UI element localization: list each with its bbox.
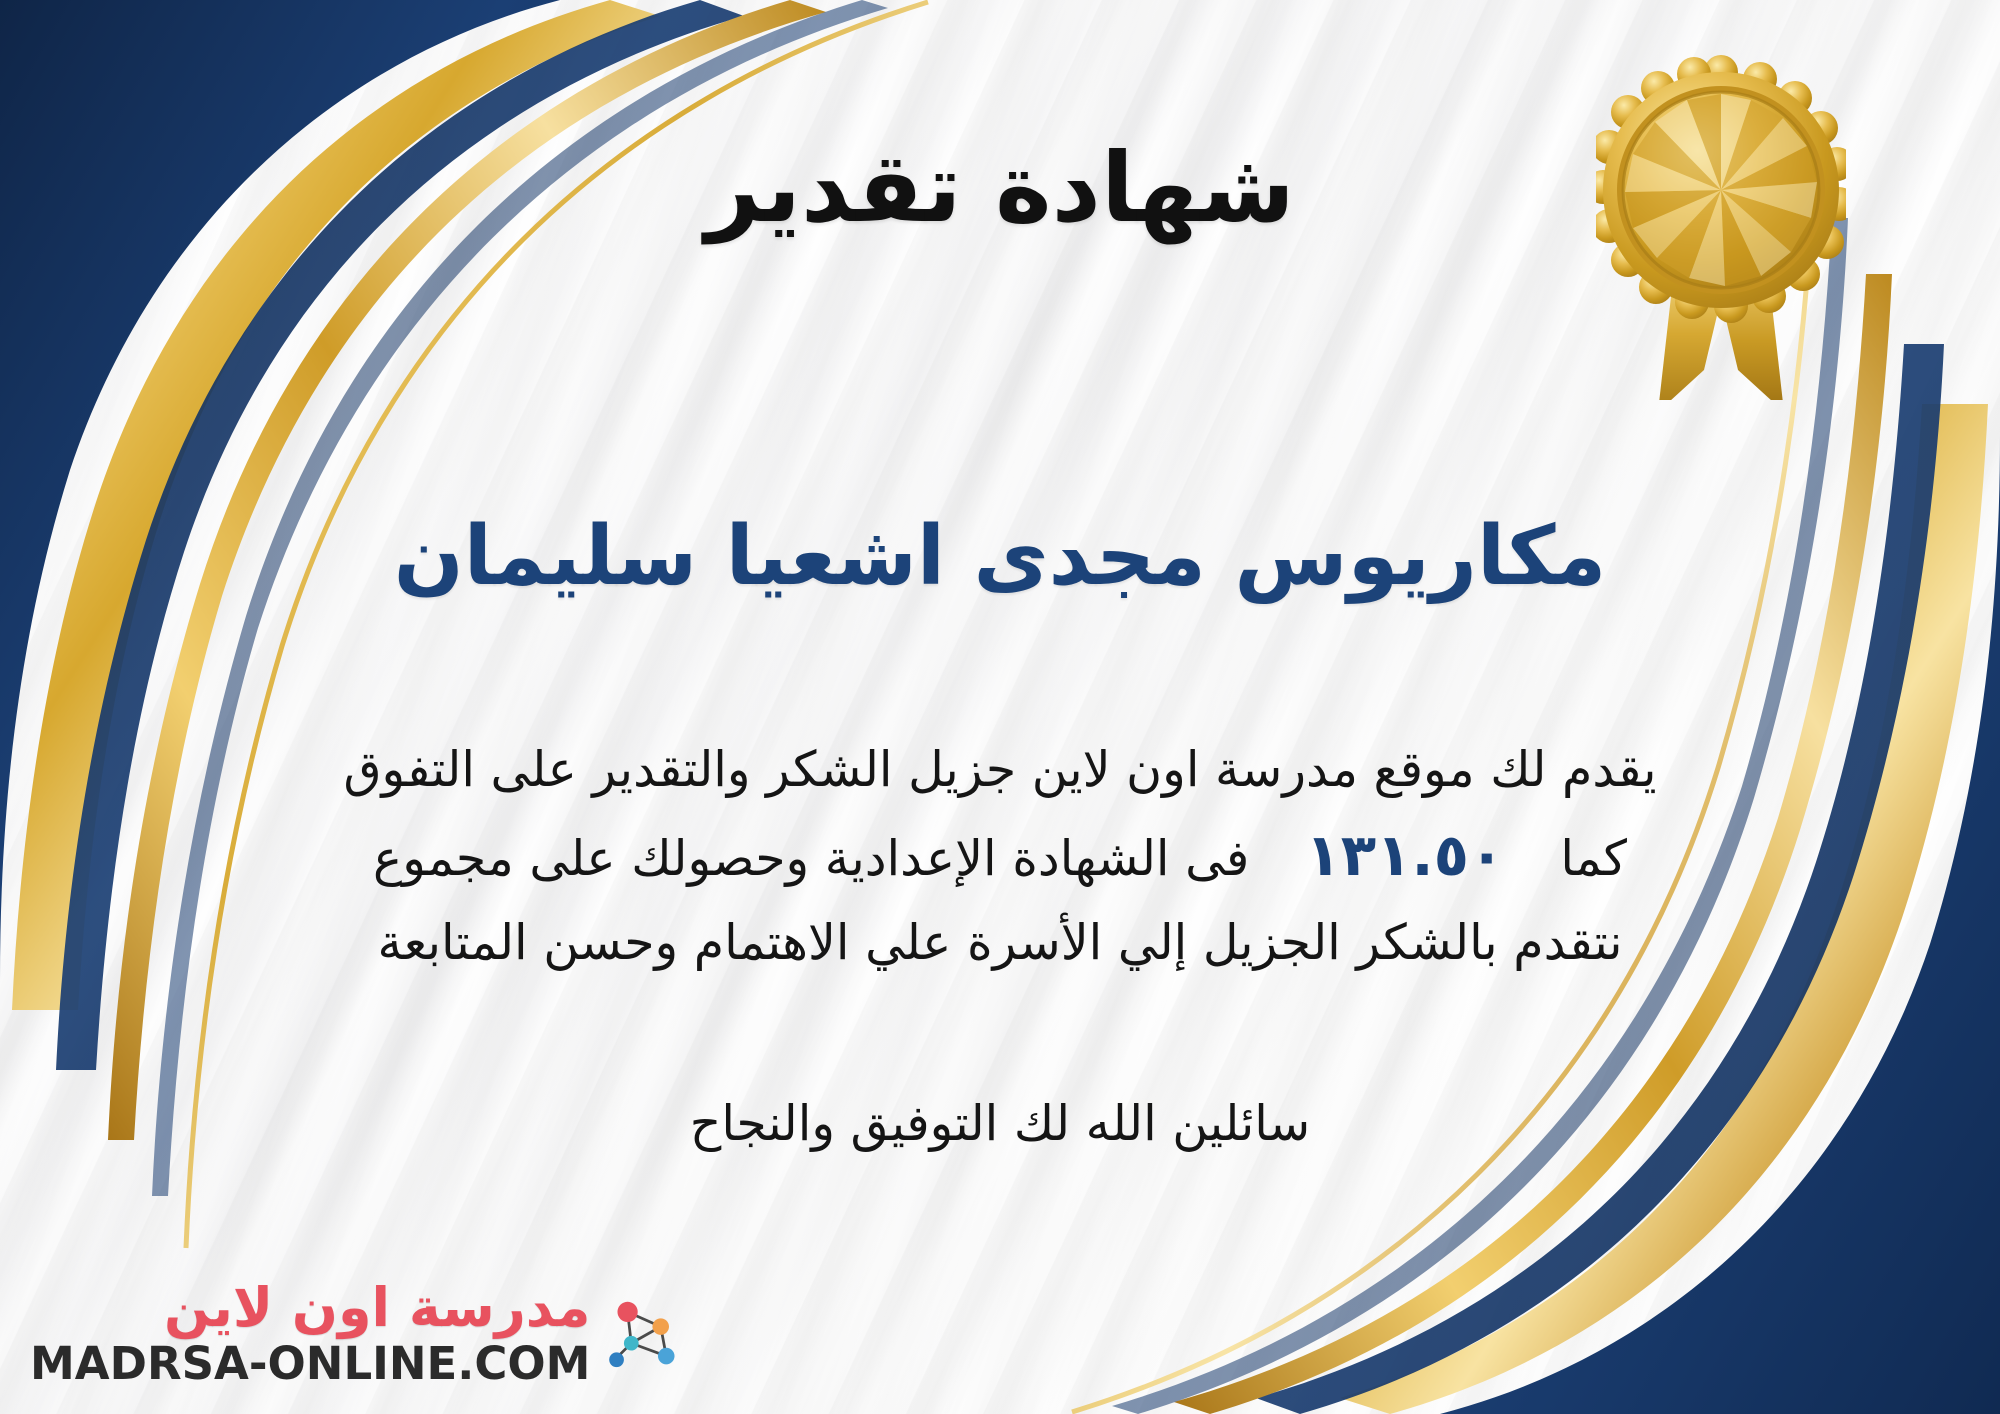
body-line-1: يقدم لك موقع مدرسة اون لاين جزيل الشكر و… (60, 730, 1940, 809)
body-line-2-prefix: فى الشهادة الإعدادية وحصولك على مجموع (373, 819, 1249, 898)
logo-website-url: MADRSA-ONLINE.COM (30, 1339, 590, 1389)
page-title: شهادة تقدير (0, 138, 2000, 239)
body-line-3: نتقدم بالشكر الجزيل إلي الأسرة علي الاهت… (60, 903, 1940, 982)
certificate-page: شهادة تقدير مكاريوس مجدى اشعيا سليمان يق… (0, 0, 2000, 1414)
network-nodes-icon (600, 1288, 692, 1380)
certificate-body: يقدم لك موقع مدرسة اون لاين جزيل الشكر و… (60, 730, 1940, 983)
logo-arabic-name: مدرسة اون لاين (164, 1280, 590, 1337)
certificate-content: شهادة تقدير مكاريوس مجدى اشعيا سليمان يق… (0, 0, 2000, 1414)
score-value: ١٣١.٥٠ (1279, 809, 1530, 903)
logo-text-group: مدرسة اون لاين MADRSA-ONLINE.COM (30, 1280, 590, 1388)
body-line-2-suffix: كما (1560, 819, 1627, 898)
body-line-2: كما ١٣١.٥٠ فى الشهادة الإعدادية وحصولك ع… (60, 809, 1940, 903)
closing-wish: سائلين الله لك التوفيق والنجاح (0, 1095, 2000, 1152)
recipient-name: مكاريوس مجدى اشعيا سليمان (0, 512, 2000, 602)
site-logo[interactable]: مدرسة اون لاين MADRSA-ONLINE.COM (30, 1280, 692, 1388)
